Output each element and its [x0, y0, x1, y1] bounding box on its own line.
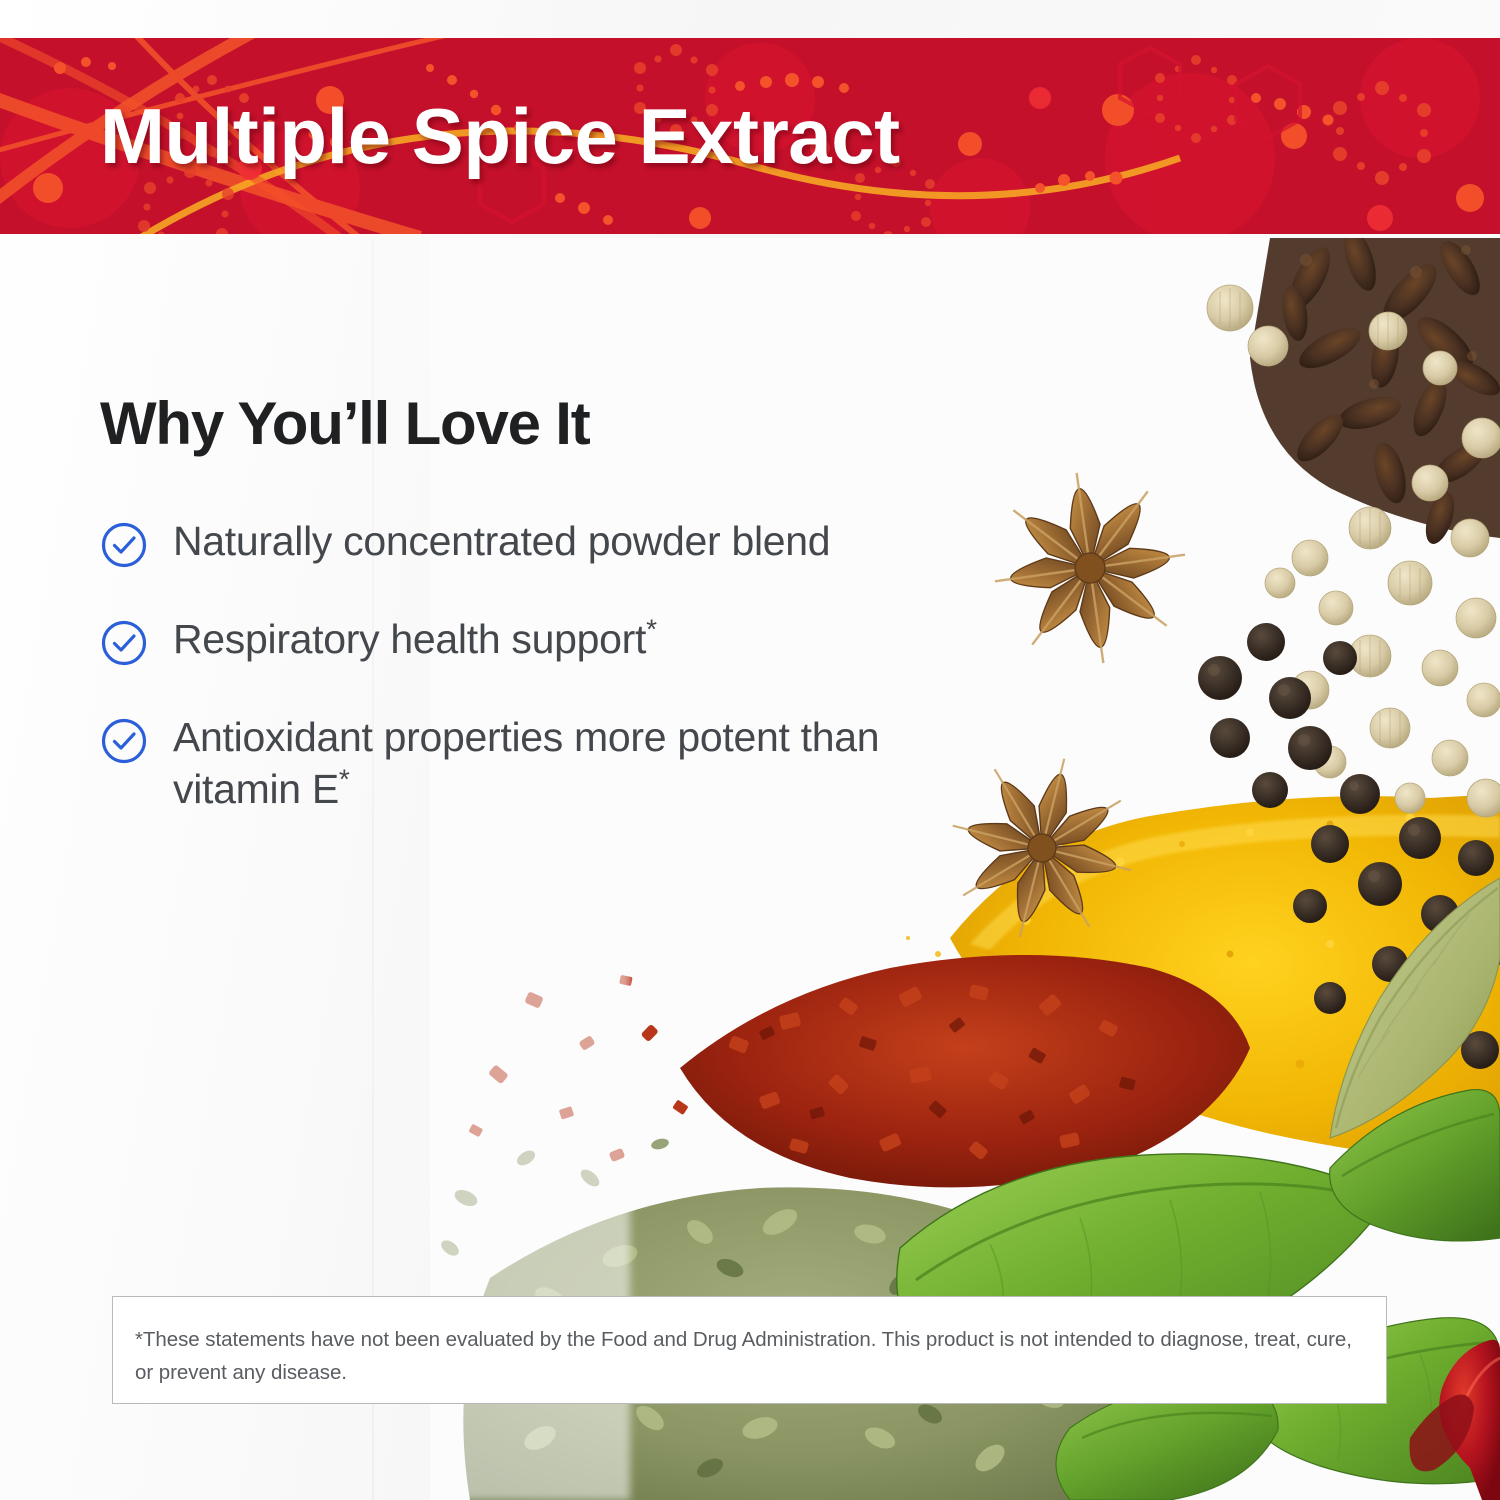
benefit-label: Naturally concentrated powder blend	[173, 518, 830, 564]
footnote-marker: *	[646, 613, 657, 644]
benefit-text: Antioxidant properties more potent than …	[173, 711, 953, 816]
list-item: Antioxidant properties more potent than …	[100, 711, 1000, 816]
list-item: Naturally concentrated powder blend	[100, 515, 1000, 569]
benefit-label: Respiratory health support	[173, 616, 646, 662]
disclaimer-box: *These statements have not been evaluate…	[112, 1296, 1387, 1404]
footnote-marker: *	[339, 764, 350, 795]
benefit-text: Naturally concentrated powder blend	[173, 515, 830, 567]
benefit-label: Antioxidant properties more potent than …	[173, 714, 879, 812]
disclaimer-text: *These statements have not been evaluate…	[135, 1323, 1364, 1389]
header-banner: Multiple Spice Extract	[0, 38, 1500, 234]
section-heading: Why You’ll Love It	[100, 392, 1000, 455]
list-item: Respiratory health support*	[100, 613, 1000, 667]
product-infographic: Multiple Spice Extract Why You’ll Love I…	[0, 0, 1500, 1500]
benefits-section: Why You’ll Love It Naturally concentrate…	[100, 392, 1000, 816]
check-circle-icon	[100, 717, 148, 765]
page-title: Multiple Spice Extract	[100, 97, 900, 175]
benefit-list: Naturally concentrated powder blend Resp…	[100, 515, 1000, 816]
check-circle-icon	[100, 521, 148, 569]
benefit-text: Respiratory health support*	[173, 613, 657, 665]
check-circle-icon	[100, 619, 148, 667]
